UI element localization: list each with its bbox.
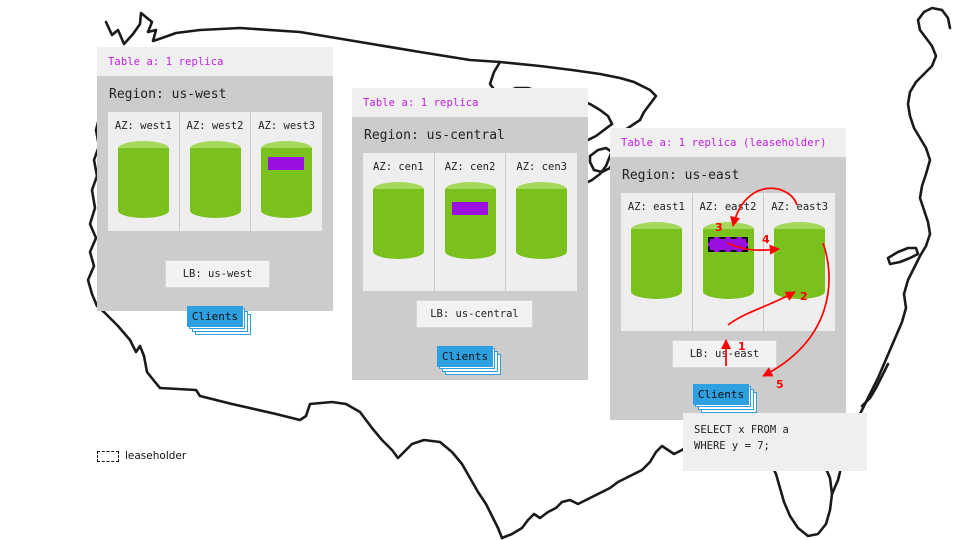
region-title-us-east: Region: us-east	[621, 157, 835, 193]
cylinder-bottom	[118, 203, 169, 218]
panel-header-us-east: Table a: 1 replica (leaseholder)	[610, 128, 846, 157]
cylinder-bottom	[774, 284, 825, 299]
sql-query-box: SELECT x FROM a WHERE y = 7;	[683, 413, 867, 471]
region-title-us-west: Region: us-west	[108, 76, 322, 112]
cylinder-body	[631, 229, 682, 291]
cylinder-body	[445, 189, 496, 251]
panel-body-us-central: Region: us-central AZ: cen1 AZ: cen2	[352, 117, 588, 380]
az-label-cen3: AZ: cen3	[516, 161, 567, 173]
region-panel-us-west: Table a: 1 replica Region: us-west AZ: w…	[97, 47, 333, 311]
cylinder-body	[190, 148, 241, 210]
region-panel-us-central: Table a: 1 replica Region: us-central AZ…	[352, 88, 588, 380]
clients-stack-us-east[interactable]: Clients	[693, 384, 759, 414]
region-title-us-central: Region: us-central	[363, 117, 577, 153]
az-label-cen2: AZ: cen2	[445, 161, 496, 173]
az-cell-cen1[interactable]: AZ: cen1	[363, 153, 435, 291]
az-cell-west3[interactable]: AZ: west3	[251, 112, 322, 231]
az-label-west2: AZ: west2	[187, 120, 244, 132]
node-cylinder-cen3[interactable]	[516, 182, 567, 259]
az-row-us-west: AZ: west1 AZ: west2 AZ	[108, 112, 322, 231]
panel-body-us-east: Region: us-east AZ: east1 AZ: east2	[610, 157, 846, 420]
cylinder-bottom	[516, 244, 567, 259]
az-label-cen1: AZ: cen1	[373, 161, 424, 173]
region-panel-us-east: Table a: 1 replica (leaseholder) Region:…	[610, 128, 846, 420]
cylinder-bottom	[631, 284, 682, 299]
az-row-us-east: AZ: east1 AZ: east2	[621, 193, 835, 331]
legend-label: leaseholder	[125, 450, 186, 462]
cylinder-bottom	[261, 203, 312, 218]
lb-box-us-central[interactable]: LB: us-central	[416, 300, 533, 328]
panel-header-us-west: Table a: 1 replica	[97, 47, 333, 76]
az-cell-east2[interactable]: AZ: east2	[693, 193, 765, 331]
clients-stack-us-west[interactable]: Clients	[187, 306, 253, 336]
lb-box-us-east[interactable]: LB: us-east	[672, 340, 777, 368]
az-label-east2: AZ: east2	[700, 201, 757, 213]
node-cylinder-cen1[interactable]	[373, 182, 424, 259]
cylinder-body	[118, 148, 169, 210]
replica-band-cen2	[452, 202, 488, 215]
az-cell-east1[interactable]: AZ: east1	[621, 193, 693, 331]
diagram-canvas: Table a: 1 replica Region: us-west AZ: w…	[0, 0, 960, 540]
panel-body-us-west: Region: us-west AZ: west1 AZ: west2	[97, 76, 333, 311]
lb-box-us-west[interactable]: LB: us-west	[165, 260, 270, 288]
cylinder-bottom	[190, 203, 241, 218]
clients-button-us-east[interactable]: Clients	[693, 384, 749, 405]
node-cylinder-east2[interactable]	[703, 222, 754, 299]
panel-header-us-central: Table a: 1 replica	[352, 88, 588, 117]
dashed-rect-icon	[97, 451, 119, 462]
az-cell-west2[interactable]: AZ: west2	[180, 112, 252, 231]
clients-button-us-west[interactable]: Clients	[187, 306, 243, 327]
leaseholder-band-east2	[708, 237, 748, 252]
node-cylinder-east3[interactable]	[774, 222, 825, 299]
node-cylinder-east1[interactable]	[631, 222, 682, 299]
cylinder-body	[774, 229, 825, 291]
az-label-east3: AZ: east3	[771, 201, 828, 213]
az-label-east1: AZ: east1	[628, 201, 685, 213]
az-row-us-central: AZ: cen1 AZ: cen2	[363, 153, 577, 291]
cylinder-bottom	[373, 244, 424, 259]
az-label-west3: AZ: west3	[258, 120, 315, 132]
replica-band-west3	[268, 157, 304, 170]
az-cell-west1[interactable]: AZ: west1	[108, 112, 180, 231]
node-cylinder-west2[interactable]	[190, 141, 241, 218]
az-label-west1: AZ: west1	[115, 120, 172, 132]
cylinder-bottom	[703, 284, 754, 299]
legend: leaseholder	[97, 450, 186, 462]
az-cell-east3[interactable]: AZ: east3	[764, 193, 835, 331]
node-cylinder-west1[interactable]	[118, 141, 169, 218]
cylinder-body	[516, 189, 567, 251]
cylinder-bottom	[445, 244, 496, 259]
clients-button-us-central[interactable]: Clients	[437, 346, 493, 367]
cylinder-body	[373, 189, 424, 251]
az-cell-cen3[interactable]: AZ: cen3	[506, 153, 577, 291]
node-cylinder-west3[interactable]	[261, 141, 312, 218]
node-cylinder-cen2[interactable]	[445, 182, 496, 259]
clients-stack-us-central[interactable]: Clients	[437, 346, 503, 376]
az-cell-cen2[interactable]: AZ: cen2	[435, 153, 507, 291]
